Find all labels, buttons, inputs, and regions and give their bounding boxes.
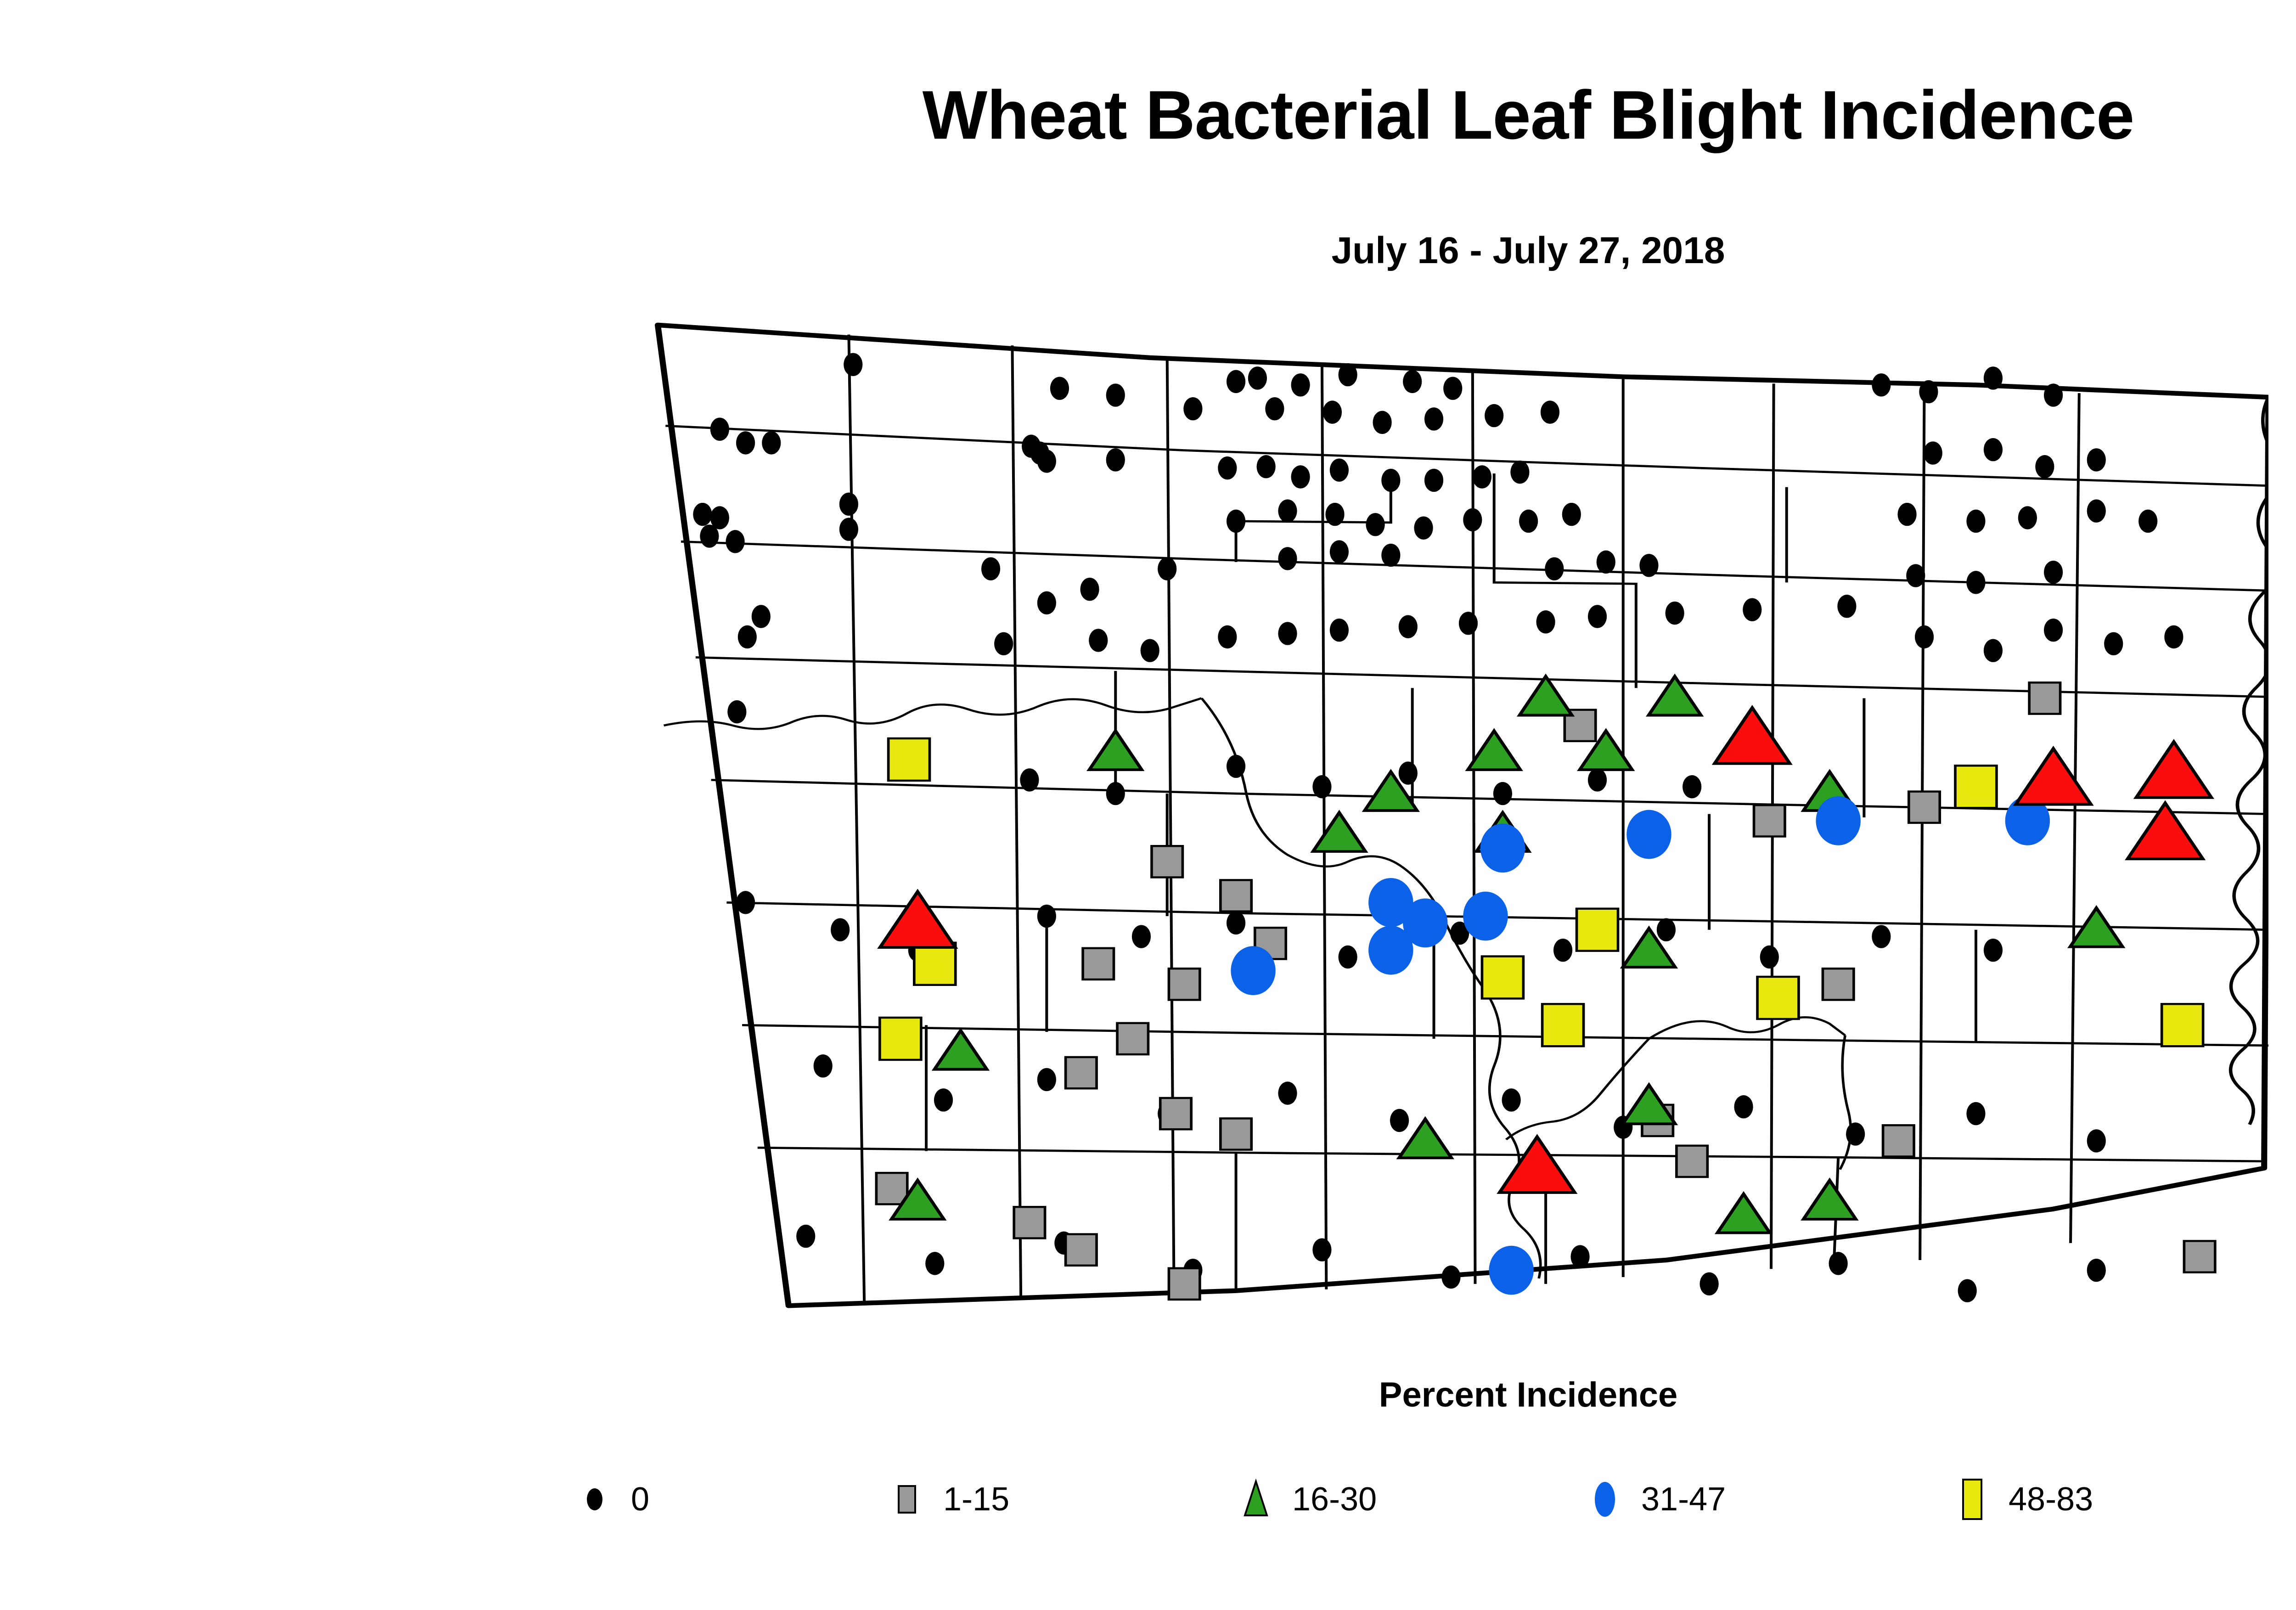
map-marker-0 [1291,465,1310,488]
map-marker-31-47 [1463,892,1508,941]
map-marker-0 [1278,499,1297,522]
map-marker-0 [1424,469,1443,492]
map-marker-0 [2138,510,2157,533]
square-icon [877,1469,937,1529]
map-marker-1-15 [1066,1234,1097,1266]
map-marker-0 [814,1054,833,1077]
legend-label-0: 0 [631,1481,649,1518]
circle-small-icon [565,1469,625,1529]
map-marker-0 [1424,407,1443,430]
map-marker-0 [1958,1279,1977,1302]
map-marker-0 [2087,448,2106,471]
legend-item-3[interactable]: 31-47 [1575,1469,1726,1529]
map-marker-0 [1106,383,1125,406]
map-marker-0 [1399,615,1418,638]
map-marker-0 [1080,578,1099,601]
circle-icon [1575,1469,1635,1529]
map-marker-0 [1872,373,1891,396]
map-marker-0 [1562,503,1581,526]
map-marker-0 [1597,551,1615,574]
map-marker-0 [1459,612,1478,635]
legend-label-1: 1-15 [943,1481,1009,1518]
map-marker-0 [1278,1081,1297,1104]
map-marker-0 [2104,632,2123,655]
map-marker-0 [1519,510,1538,533]
map-marker-0 [844,353,862,376]
map-marker-0 [2087,1129,2106,1152]
map-marker-0 [738,625,757,648]
map-marker-0 [1183,397,1202,420]
map-marker-0 [1545,557,1564,580]
map-marker-0 [1330,619,1349,642]
map-marker-0 [1666,602,1684,625]
map-marker-0 [1037,905,1056,928]
legend-item-0[interactable]: 0 [565,1469,649,1529]
map-marker-48-83 [1955,766,1997,808]
map-marker-0 [1403,370,1422,393]
legend-item-4[interactable]: 48-83 [1942,1469,2093,1529]
map-svg [634,317,2268,1318]
map-marker-1-15 [1014,1207,1045,1238]
map-marker-0 [1837,595,1856,618]
map-marker-0 [1984,939,2003,962]
legend-title: Percent Incidence [0,1378,2296,1413]
map-marker-0 [925,1252,944,1275]
map-marker-0 [1915,625,1934,648]
map-marker-0 [1414,517,1433,540]
map-marker-48-83 [914,943,956,985]
map-marker-0 [1639,554,1658,577]
map-marker-0 [1366,513,1385,536]
map-marker-0 [1373,411,1391,434]
square-icon [1942,1469,2002,1529]
map-marker-0 [1588,768,1607,791]
map-marker-0 [839,493,858,516]
map-marker-0 [1312,775,1331,798]
map-marker-0 [1325,503,1344,526]
map-marker-0 [1502,1088,1521,1111]
map-marker-1-15 [1117,1023,1148,1054]
map-marker-31-47 [1626,810,1671,859]
map-marker-0 [700,524,719,547]
map-marker-0 [1106,448,1125,471]
map-marker-0 [2044,619,2063,642]
map-marker-1-15 [1221,1118,1251,1149]
map-marker-0 [1291,373,1310,396]
map-marker-0 [1966,571,1985,594]
map-marker-0 [2164,625,2183,648]
map-marker-1-15 [1677,1146,1707,1177]
map-marker-0 [1441,1266,1460,1289]
map-marker-0 [1966,1102,1985,1125]
map-marker-0 [1984,366,2003,389]
map-marker-0 [1089,629,1108,652]
map-marker-0 [1570,1245,1589,1268]
map-marker-0 [1485,404,1503,427]
map-marker-48-83 [1542,1004,1584,1046]
map-marker-0 [1278,547,1297,570]
map-marker-1-15 [2184,1241,2215,1272]
map-marker-0 [1227,755,1245,778]
legend-item-1[interactable]: 1-15 [877,1469,1009,1529]
map-marker-0 [1919,380,1938,403]
map-marker-0 [752,605,771,628]
map-marker-1-15 [1883,1125,1914,1156]
map-marker-0 [1037,591,1056,614]
map-marker-0 [1390,1109,1409,1132]
map-marker-0 [1020,768,1039,791]
map-marker-0 [1443,377,1462,400]
page-subtitle: July 16 - July 27, 2018 [0,232,2296,270]
map-marker-0 [981,557,1000,580]
map-marker-0 [710,417,729,440]
triangle-icon [1226,1469,1286,1529]
map-marker-0 [1158,557,1176,580]
map-marker-0 [1323,400,1342,423]
map-marker-1-15 [1066,1057,1097,1088]
map-marker-0 [1227,370,1245,393]
map-marker-0 [1381,469,1400,492]
map-marker-1-15 [2029,682,2060,714]
map-marker-0 [1050,377,1069,400]
legend-label-2: 16-30 [1292,1481,1377,1518]
map-marker-0 [1132,925,1151,948]
map-marker-0 [726,530,744,553]
map-marker-0 [1330,540,1349,563]
map-marker-0 [1381,544,1400,567]
map-marker-0 [839,518,858,540]
map-marker-0 [1330,458,1349,481]
map-marker-0 [1553,939,1572,962]
map-marker-0 [1743,598,1761,621]
map-marker-0 [1218,456,1237,479]
map-marker-0 [1339,946,1357,968]
map-marker-0 [1541,400,1559,423]
map-marker-0 [2044,561,2063,584]
map-marker-0 [1227,912,1245,934]
map-marker-0 [1037,1068,1056,1091]
map-marker-1-15 [1152,846,1182,877]
map-marker-0 [1312,1238,1331,1261]
map-marker-31-47 [1480,823,1525,873]
map-marker-0 [1872,925,1891,948]
map-marker-0 [1106,782,1125,805]
map-marker-0 [1760,946,1779,968]
map-marker-0 [1037,450,1056,473]
map-marker-0 [1924,441,1942,464]
map-marker-31-47 [1368,926,1413,975]
map-marker-0 [736,431,755,454]
map-marker-1-15 [1221,880,1251,911]
map-marker-0 [727,700,746,723]
legend-item-2[interactable]: 16-30 [1226,1469,1377,1529]
map-marker-0 [1846,1122,1865,1145]
map-marker-0 [1227,510,1245,533]
map-marker-0 [1966,510,1985,533]
map-marker-48-83 [1577,909,1618,951]
map-marker-48-83 [880,1018,921,1060]
map-marker-0 [1699,1272,1718,1295]
map-marker-0 [2018,506,2037,529]
map-marker-0 [1339,363,1357,386]
legend: 0 1-15 16-30 31-47 48-83 [565,1469,2296,1529]
legend-label-3: 31-47 [1641,1481,1726,1518]
map-marker-48-83 [2162,1004,2203,1046]
map-marker-0 [1248,366,1267,389]
map-marker-0 [1278,622,1297,645]
map-marker-0 [2087,499,2106,522]
map-marker-0 [934,1088,953,1111]
north-dakota-map [634,317,2268,1318]
map-marker-0 [1588,605,1607,628]
map-marker-31-47 [1489,1246,1533,1295]
map-marker-0 [1510,461,1529,484]
map-marker-48-83 [889,738,930,781]
map-marker-31-47 [1231,946,1275,995]
map-marker-1-15 [1083,948,1114,980]
map-marker-0 [693,503,712,526]
map-marker-0 [1683,775,1701,798]
map-marker-48-83 [1482,957,1523,999]
map-marker-31-47 [1816,796,1860,845]
map-marker-0 [1257,455,1276,478]
map-marker-0 [1897,503,1916,526]
map-marker-1-15 [1823,968,1853,1000]
map-marker-0 [1657,918,1676,941]
map-marker-0 [1829,1252,1848,1275]
map-marker-0 [1984,438,2003,461]
map-marker-0 [1493,782,1512,805]
map-marker-0 [1463,508,1482,531]
map-marker-1-15 [1754,805,1785,836]
map-marker-1-15 [1169,968,1199,1000]
map-marker-0 [796,1225,815,1248]
map-marker-0 [1734,1095,1753,1118]
map-marker-0 [762,431,781,454]
map-marker-0 [2087,1259,2106,1282]
map-marker-0 [1536,610,1555,633]
map-marker-1-15 [1909,792,1940,823]
map-marker-1-15 [876,1173,907,1204]
legend-label-4: 48-83 [2009,1481,2093,1518]
map-marker-0 [2044,383,2063,406]
map-marker-0 [1473,465,1491,488]
map-marker-48-83 [1757,977,1799,1019]
map-marker-0 [994,632,1013,655]
map-marker-0 [1399,761,1418,784]
map-marker-0 [1218,625,1237,648]
page-title: Wheat Bacterial Leaf Blight Incidence [0,80,2296,149]
map-marker-0 [1265,397,1284,420]
map-marker-0 [736,891,755,914]
map-marker-0 [1984,639,2003,662]
map-marker-0 [2035,455,2054,478]
map-marker-0 [1906,564,1925,587]
map-marker-0 [1141,639,1159,662]
map-marker-1-15 [1169,1268,1199,1300]
map-marker-0 [831,918,850,941]
map-figure: Wheat Bacterial Leaf Blight Incidence Ju… [0,0,2296,1610]
map-marker-1-15 [1160,1098,1191,1129]
